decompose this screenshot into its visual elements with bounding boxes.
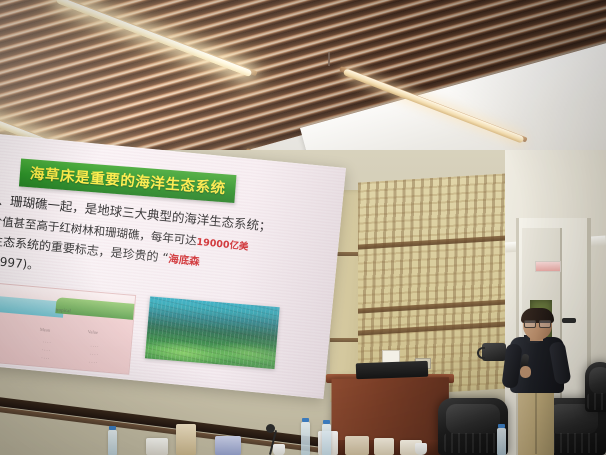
diagram-table-cell: . . . . [90,350,98,356]
diagram-table-cell: . . . . [89,358,97,364]
diagram-table-cell: . . . . [42,346,50,352]
paper-cup [273,444,285,455]
bottle-cap [323,420,330,424]
diagram-table-cell: . . . . [43,338,51,344]
light-hanger-rod [328,52,330,66]
eyeglasses-icon [524,320,550,326]
panel-band [358,235,508,249]
snack-box [374,438,394,455]
diagram-table-cell: . . . . [90,342,98,348]
presenter-trousers [518,384,554,455]
snack-box [215,436,241,455]
presenter [498,310,576,455]
lens-right [539,320,551,328]
slide-figure-coastline-diagram: emperate tropical Mean Mean Value . . . … [0,277,136,375]
panel-band [358,321,508,335]
chair-pleats [587,393,606,410]
laptop-on-lectern [356,361,429,380]
paper-cup [415,443,427,455]
slide-figure-seagrass-photo [145,296,280,369]
diagram-table-cell: . . . . [41,354,49,360]
diagram-col-header-3: Value [88,329,99,335]
slide-line-3-highlight: 海底森 [168,253,201,268]
conference-chair [585,362,606,412]
water-bottle [322,424,331,455]
bottle-cap [109,426,116,430]
water-bottle [108,430,117,455]
conference-room-photo: 海草床是重要的海洋生态系统 床和红树林、珊瑚礁一起，是地球三大典型的海洋生态系统… [0,0,606,455]
slide-line-2-highlight: 19000亿美 [196,236,249,252]
chair-pleats [444,433,503,452]
projection-screen: 海草床是重要的海洋生态系统 床和红树林、珊瑚礁一起，是地球三大典型的海洋生态系统… [0,132,346,399]
diagram-col-header-2: Mean [40,327,51,333]
panel-band [358,299,508,313]
exit-sign [535,261,561,272]
snack-box [345,436,369,455]
microphone-icon [266,424,275,433]
snack-box [176,424,196,455]
bottle-cap [302,418,309,422]
snack-box [146,438,168,455]
lens-left [524,320,536,328]
presenter-hand [520,366,531,378]
water-bottle [301,422,310,455]
